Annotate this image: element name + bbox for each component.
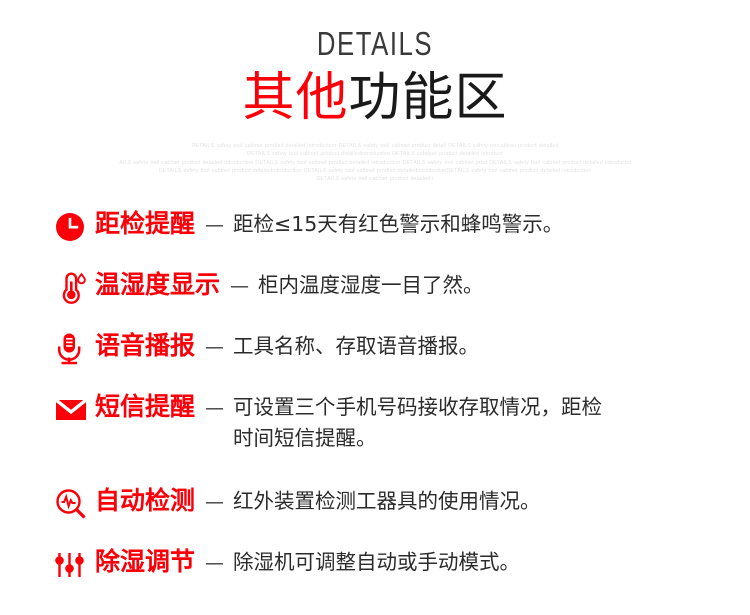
feature-list: 距检提醒 — 距检≤15天有红色警示和蜂鸣警示。 温湿度显示 — 柜内温度湿度一… [0, 207, 750, 584]
page-header: DETAILS 其他功能区 [0, 0, 750, 128]
microphone-icon [55, 329, 95, 368]
page-title-rest: 功能区 [349, 68, 508, 128]
feature-dash: — [205, 329, 233, 365]
feature-description: 柜内温度湿度一目了然。 [258, 268, 484, 301]
feature-description: 除湿机可调整自动或手动模式。 [233, 545, 520, 578]
feature-title: 语音播报 [95, 329, 205, 363]
filler-paragraph: DETAILS safety tool cabinet product deta… [115, 142, 635, 183]
clock-icon [55, 207, 95, 246]
feature-dash: — [205, 207, 233, 243]
feature-dash: — [230, 268, 258, 304]
filler-line-2: DETAILS safety tool cabinet product deta… [115, 150, 635, 158]
feature-title: 自动检测 [95, 484, 205, 518]
feature-row: 自动检测 — 红外装置检测工器具的使用情况。 [55, 484, 750, 523]
filler-line-4: DETAILS safety tool cabinet product deta… [65, 167, 685, 175]
feature-title: 温湿度显示 [95, 268, 230, 302]
page-eyebrow-title: DETAILS [83, 26, 668, 62]
feature-row: 语音播报 — 工具名称、存取语音播报。 [55, 329, 750, 368]
feature-title: 除湿调节 [95, 545, 205, 579]
feature-row: 短信提醒 — 可设置三个手机号码接收存取情况，距检时间短信提醒。 [55, 390, 750, 454]
feature-dash: — [205, 545, 233, 581]
feature-description: 工具名称、存取语音播报。 [233, 329, 479, 362]
feature-description: 距检≤15天有红色警示和蜂鸣警示。 [233, 207, 563, 240]
feature-title: 距检提醒 [95, 207, 205, 241]
thermometer-humidity-icon [55, 268, 95, 307]
filler-line-5: DETAILS safety tool cabinet product deta… [115, 175, 635, 183]
pulse-magnifier-icon [55, 484, 95, 523]
feature-row: 除湿调节 — 除湿机可调整自动或手动模式。 [55, 545, 750, 584]
feature-description: 红外装置检测工器具的使用情况。 [233, 484, 541, 517]
feature-dash: — [205, 484, 233, 520]
feature-description: 可设置三个手机号码接收存取情况，距检时间短信提醒。 [233, 390, 611, 454]
equalizer-sliders-icon [55, 545, 95, 584]
feature-row: 距检提醒 — 距检≤15天有红色警示和蜂鸣警示。 [55, 207, 750, 246]
feature-dash: — [205, 390, 233, 426]
filler-line-3: AILS safety tool cabinet product detaile… [65, 159, 685, 167]
page-title-highlight: 其他 [242, 68, 348, 128]
envelope-icon [55, 390, 95, 429]
feature-row: 温湿度显示 — 柜内温度湿度一目了然。 [55, 268, 750, 307]
feature-title: 短信提醒 [95, 390, 205, 424]
page-title: 其他功能区 [0, 68, 750, 128]
filler-line-1: DETAILS safety tool cabinet product deta… [115, 142, 635, 150]
